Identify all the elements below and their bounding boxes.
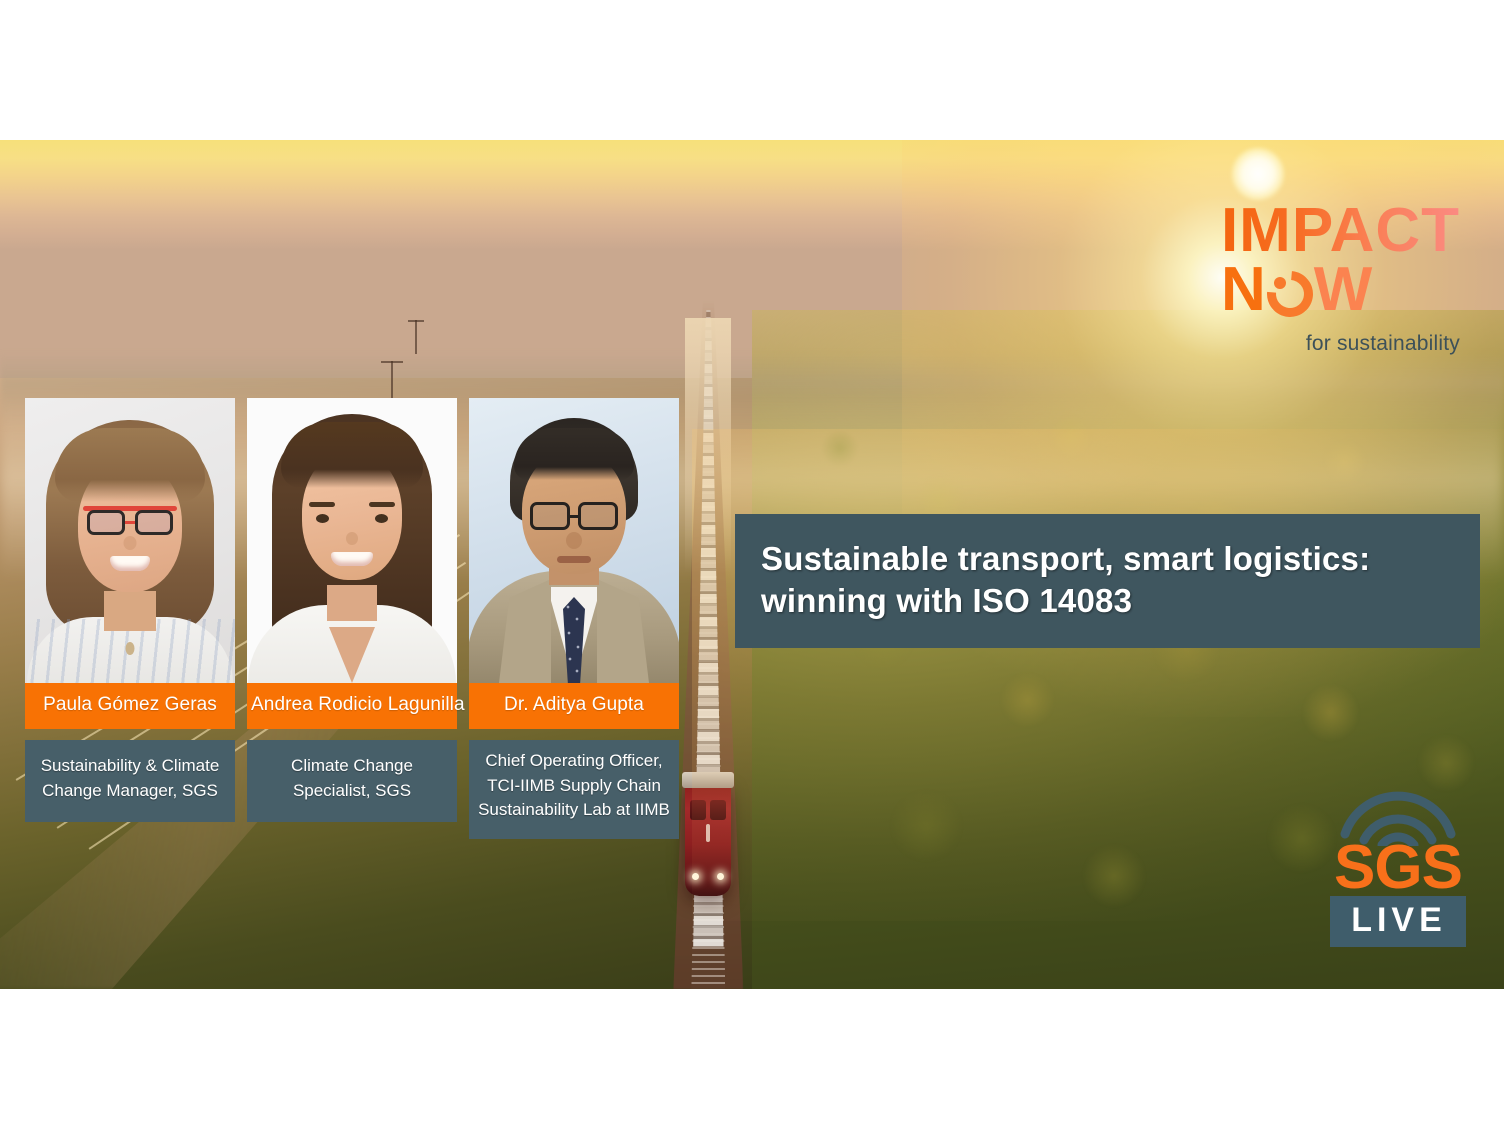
speaker-portrait: [469, 398, 679, 683]
page-title: Sustainable transport, smart logistics: …: [761, 538, 1454, 622]
speaker-role: Sustainability & Climate Change Manager,…: [25, 740, 235, 822]
speaker-name: Paula Gómez Geras: [25, 683, 235, 729]
speaker-card: Dr. Aditya Gupta Chief Operating Officer…: [469, 398, 679, 839]
sgs-wordmark: SGS: [1330, 842, 1466, 894]
speaker-name: Andrea Rodicio Lagunilla: [247, 683, 457, 729]
logo-now-n: N: [1221, 261, 1266, 318]
speaker-card: Andrea Rodicio Lagunilla Climate Change …: [247, 398, 457, 822]
eyeglasses-icon: [87, 510, 173, 535]
live-badge: LIVE: [1330, 896, 1466, 947]
logo-tagline: for sustainability: [1221, 332, 1460, 356]
speaker-portrait: [25, 398, 235, 683]
logo-now-row: N W: [1221, 261, 1460, 318]
title-banner: Sustainable transport, smart logistics: …: [735, 514, 1480, 648]
speaker-name: Dr. Aditya Gupta: [469, 683, 679, 729]
speaker-list: Paula Gómez Geras Sustainability & Clima…: [25, 398, 679, 839]
webinar-slide: IMPACT N W for sustainability Sustainabl…: [0, 140, 1504, 989]
logo-impact-text: IMPACT: [1221, 202, 1460, 259]
logo-circle-o-icon: [1267, 271, 1313, 317]
logo-now-w: W: [1314, 261, 1373, 318]
sun-disc: [1232, 148, 1284, 200]
impact-now-logo: IMPACT N W for sustainability: [1221, 202, 1460, 356]
sgs-live-logo: SGS LIVE: [1330, 790, 1466, 947]
speaker-card: Paula Gómez Geras Sustainability & Clima…: [25, 398, 235, 822]
eyeglasses-icon: [530, 502, 618, 530]
speaker-role: Climate Change Specialist, SGS: [247, 740, 457, 822]
speaker-portrait: [247, 398, 457, 683]
speaker-role: Chief Operating Officer, TCI-IIMB Supply…: [469, 740, 679, 839]
